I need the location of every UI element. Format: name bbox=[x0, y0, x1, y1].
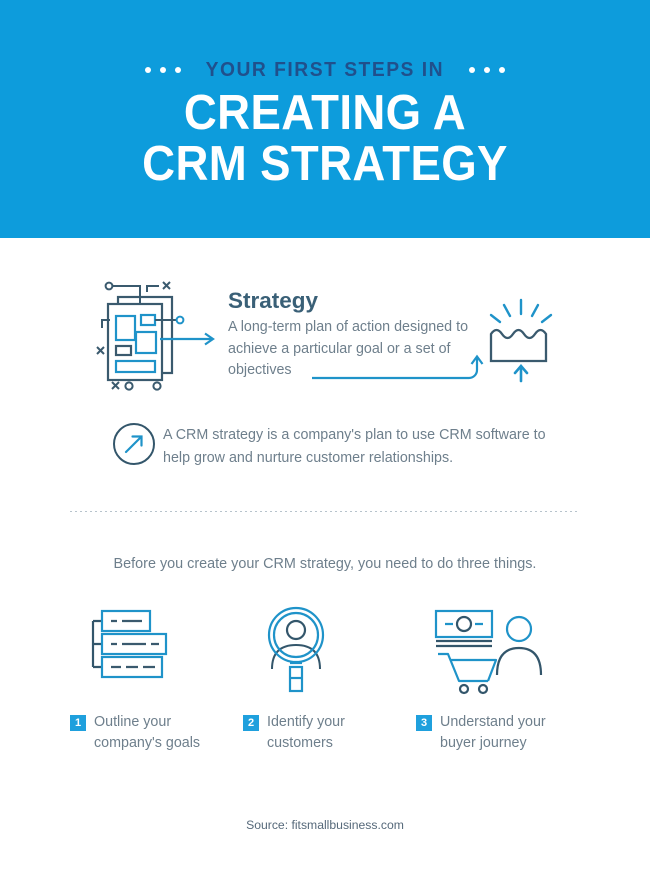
dot-icon bbox=[160, 67, 166, 73]
steps-row: 1 Outline your company's goals bbox=[70, 600, 590, 754]
eyebrow-row: YOUR FIRST STEPS IN bbox=[0, 58, 650, 82]
dots-left bbox=[145, 67, 181, 73]
page-title-line1: CREATING A bbox=[23, 88, 628, 139]
dot-icon bbox=[145, 67, 151, 73]
arrow-up-right-circle-icon bbox=[112, 422, 156, 471]
eyebrow-text: YOUR FIRST STEPS IN bbox=[206, 58, 444, 82]
step-label-line2: customers bbox=[267, 735, 333, 751]
step-label-row: 3 Understand your buyer journey bbox=[416, 712, 589, 754]
source-credit: Source: fitsmallbusiness.com bbox=[0, 818, 650, 832]
step-item: 2 Identify your customers bbox=[243, 600, 416, 754]
money-cart-person-icon bbox=[416, 600, 589, 695]
step-label-row: 1 Outline your company's goals bbox=[70, 712, 243, 754]
intro-text: Before you create your CRM strategy, you… bbox=[0, 556, 650, 572]
step-label: Identify your customers bbox=[267, 712, 392, 754]
dot-icon bbox=[499, 67, 505, 73]
arrow-right-icon bbox=[160, 332, 222, 351]
step-label: Understand your buyer journey bbox=[440, 712, 565, 754]
step-label-line2: company's goals bbox=[94, 735, 200, 751]
strategy-section: Strategy A long-term plan of action desi… bbox=[0, 270, 650, 400]
step-label-line1: Identify your bbox=[267, 714, 345, 730]
dot-icon bbox=[484, 67, 490, 73]
dot-icon bbox=[469, 67, 475, 73]
step-label-row: 2 Identify your customers bbox=[243, 712, 416, 754]
page-title-line2: CRM STRATEGY bbox=[23, 139, 628, 190]
step-label-line2: buyer journey bbox=[440, 735, 527, 751]
crm-definition-section: A CRM strategy is a company's plan to us… bbox=[0, 420, 650, 480]
stacked-list-icon bbox=[70, 600, 243, 695]
crm-definition-text: A CRM strategy is a company's plan to us… bbox=[163, 424, 563, 469]
magnifier-person-icon bbox=[243, 600, 416, 695]
step-label: Outline your company's goals bbox=[94, 712, 219, 754]
header-banner: YOUR FIRST STEPS IN CREATING A CRM STRAT… bbox=[0, 0, 650, 238]
dots-right bbox=[469, 67, 505, 73]
step-number-badge: 3 bbox=[416, 715, 432, 731]
step-label-line1: Understand your bbox=[440, 714, 546, 730]
step-item: 3 Understand your buyer journey bbox=[416, 600, 589, 754]
step-number-badge: 2 bbox=[243, 715, 259, 731]
arrow-curve-up-icon bbox=[312, 352, 487, 391]
dotted-divider bbox=[70, 511, 580, 512]
dot-icon bbox=[175, 67, 181, 73]
step-item: 1 Outline your company's goals bbox=[70, 600, 243, 754]
page-title: CREATING A CRM STRATEGY bbox=[23, 88, 628, 190]
strategy-heading: Strategy bbox=[228, 288, 473, 314]
wave-container-icon bbox=[483, 298, 563, 388]
step-label-line1: Outline your bbox=[94, 714, 171, 730]
step-number-badge: 1 bbox=[70, 715, 86, 731]
